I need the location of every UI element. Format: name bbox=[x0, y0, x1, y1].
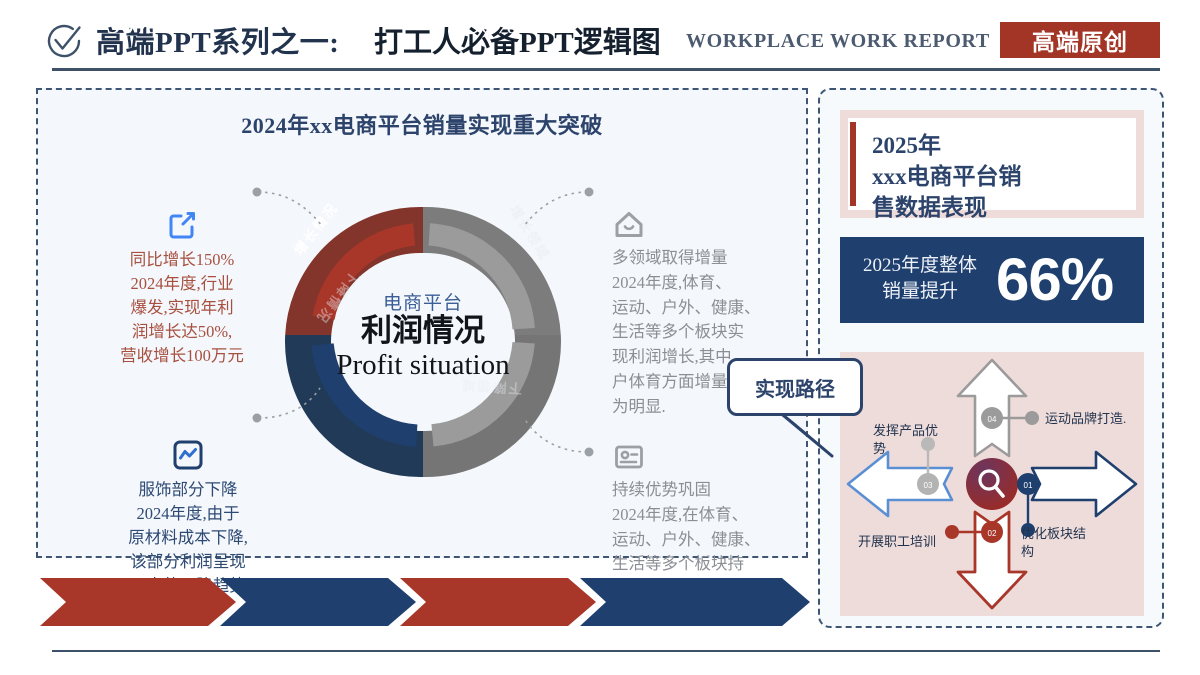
svg-text:01: 01 bbox=[1024, 481, 1033, 490]
chevron-step-4[interactable] bbox=[580, 578, 810, 626]
chevron-step-1[interactable] bbox=[40, 578, 236, 626]
chevron-label-4: 60% bbox=[580, 0, 810, 48]
leader-lines bbox=[36, 88, 808, 558]
diagram-label-04: 开展职工培训 bbox=[858, 533, 936, 551]
chevron-step-2[interactable] bbox=[220, 578, 416, 626]
diagram-label-01: 运动品牌打造. bbox=[1045, 410, 1155, 428]
header-divider bbox=[52, 68, 1160, 71]
slide-root: 高端PPT系列之一: 打工人必备PPT逻辑图 WORKPLACE WORK RE… bbox=[0, 0, 1200, 675]
chevron-label-1: 30% bbox=[40, 0, 236, 48]
callout-implementation-path[interactable]: 实现路径 bbox=[727, 358, 863, 416]
sales-stat-label: 2025年度整体 销量提升 bbox=[860, 253, 980, 304]
svg-text:03: 03 bbox=[924, 481, 933, 490]
footer-divider bbox=[52, 650, 1160, 652]
chevron-label-2: 40% bbox=[220, 0, 416, 48]
chevron-step-3[interactable] bbox=[400, 578, 596, 626]
arrow-right[interactable] bbox=[1032, 452, 1136, 516]
sales-stat-value: 66% bbox=[996, 239, 1136, 321]
right-title-line2: xxx电商平台销 bbox=[872, 161, 1140, 192]
four-direction-arrows: 01 02 03 04 bbox=[840, 352, 1144, 616]
percentage-chevron-bar bbox=[40, 578, 810, 626]
stat-label-line2: 销量提升 bbox=[860, 279, 980, 305]
diagram-label-02: 优化板块结构 bbox=[1021, 525, 1093, 560]
chevron-label-3: 50% bbox=[400, 0, 596, 48]
right-title-line1: 2025年 bbox=[872, 130, 1140, 161]
right-title-line3: 售数据表现 bbox=[872, 192, 1140, 223]
right-title-accent-bar bbox=[850, 122, 856, 206]
callout-label: 实现路径 bbox=[755, 373, 835, 402]
callout-tail bbox=[770, 404, 890, 484]
svg-text:04: 04 bbox=[988, 415, 997, 424]
svg-text:02: 02 bbox=[988, 529, 997, 538]
stat-label-line1: 2025年度整体 bbox=[860, 253, 980, 279]
search-magnifier-icon[interactable] bbox=[966, 458, 1018, 510]
status-badge: 高端原创 bbox=[1000, 22, 1160, 58]
right-panel-title: 2025年 xxx电商平台销 售数据表现 bbox=[872, 130, 1140, 223]
